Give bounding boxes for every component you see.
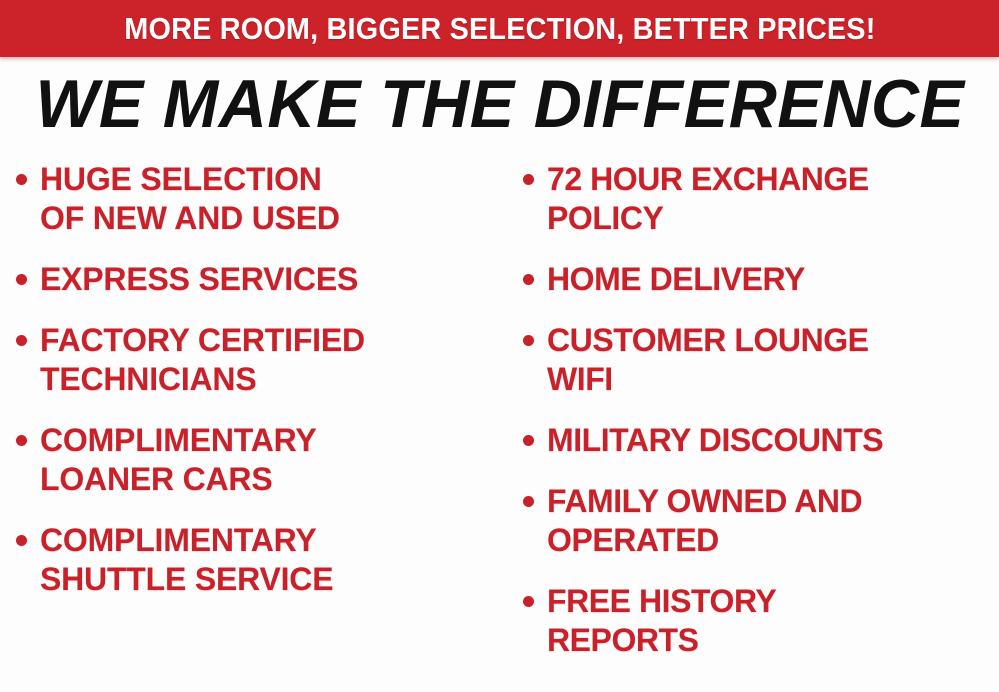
benefit-label: COMPLIMENTARY SHUTTLE SERVICE bbox=[40, 521, 333, 599]
list-item: COMPLIMENTARY LOANER CARS bbox=[16, 421, 501, 499]
benefit-label: FACTORY CERTIFIED TECHNICIANS bbox=[40, 321, 365, 399]
bullet-dot-icon bbox=[523, 596, 534, 607]
benefits-column-left: HUGE SELECTION OF NEW AND USED EXPRESS S… bbox=[0, 160, 505, 621]
bullet-dot-icon bbox=[16, 174, 27, 185]
bullet-dot-icon bbox=[523, 435, 534, 446]
benefit-label: HOME DELIVERY bbox=[547, 260, 805, 299]
list-item: EXPRESS SERVICES bbox=[16, 260, 501, 299]
bullet-dot-icon bbox=[523, 174, 534, 185]
bullet-dot-icon bbox=[523, 496, 534, 507]
benefit-label: FAMILY OWNED AND OPERATED bbox=[547, 482, 862, 560]
benefit-label: COMPLIMENTARY LOANER CARS bbox=[40, 421, 317, 499]
benefit-label: EXPRESS SERVICES bbox=[40, 260, 358, 299]
list-item: FACTORY CERTIFIED TECHNICIANS bbox=[16, 321, 501, 399]
bullet-dot-icon bbox=[523, 335, 534, 346]
top-promo-banner-text: MORE ROOM, BIGGER SELECTION, BETTER PRIC… bbox=[124, 13, 875, 44]
benefit-label: FREE HISTORY REPORTS bbox=[547, 582, 776, 660]
list-item: MILITARY DISCOUNTS bbox=[523, 421, 997, 460]
list-item: HUGE SELECTION OF NEW AND USED bbox=[16, 160, 501, 238]
bullet-dot-icon bbox=[16, 274, 27, 285]
list-item: 72 HOUR EXCHANGE POLICY bbox=[523, 160, 997, 238]
list-item: CUSTOMER LOUNGE WIFI bbox=[523, 321, 997, 399]
benefit-label: 72 HOUR EXCHANGE POLICY bbox=[547, 160, 869, 238]
headline-container: WE MAKE THE DIFFERENCE bbox=[0, 66, 999, 142]
benefits-column-right: 72 HOUR EXCHANGE POLICY HOME DELIVERY CU… bbox=[505, 160, 999, 682]
list-item: FREE HISTORY REPORTS bbox=[523, 582, 997, 660]
benefits-columns: HUGE SELECTION OF NEW AND USED EXPRESS S… bbox=[0, 160, 999, 692]
bullet-dot-icon bbox=[16, 335, 27, 346]
top-promo-banner: MORE ROOM, BIGGER SELECTION, BETTER PRIC… bbox=[0, 0, 999, 57]
bullet-dot-icon bbox=[16, 435, 27, 446]
list-item: COMPLIMENTARY SHUTTLE SERVICE bbox=[16, 521, 501, 599]
benefit-label: CUSTOMER LOUNGE WIFI bbox=[547, 321, 869, 399]
list-item: FAMILY OWNED AND OPERATED bbox=[523, 482, 997, 560]
list-item: HOME DELIVERY bbox=[523, 260, 997, 299]
benefit-label: MILITARY DISCOUNTS bbox=[547, 421, 883, 460]
advertisement-banner: MORE ROOM, BIGGER SELECTION, BETTER PRIC… bbox=[0, 0, 999, 692]
benefit-label: HUGE SELECTION OF NEW AND USED bbox=[40, 160, 340, 238]
page-title: WE MAKE THE DIFFERENCE bbox=[35, 70, 964, 138]
bullet-dot-icon bbox=[523, 274, 534, 285]
bullet-dot-icon bbox=[16, 535, 27, 546]
